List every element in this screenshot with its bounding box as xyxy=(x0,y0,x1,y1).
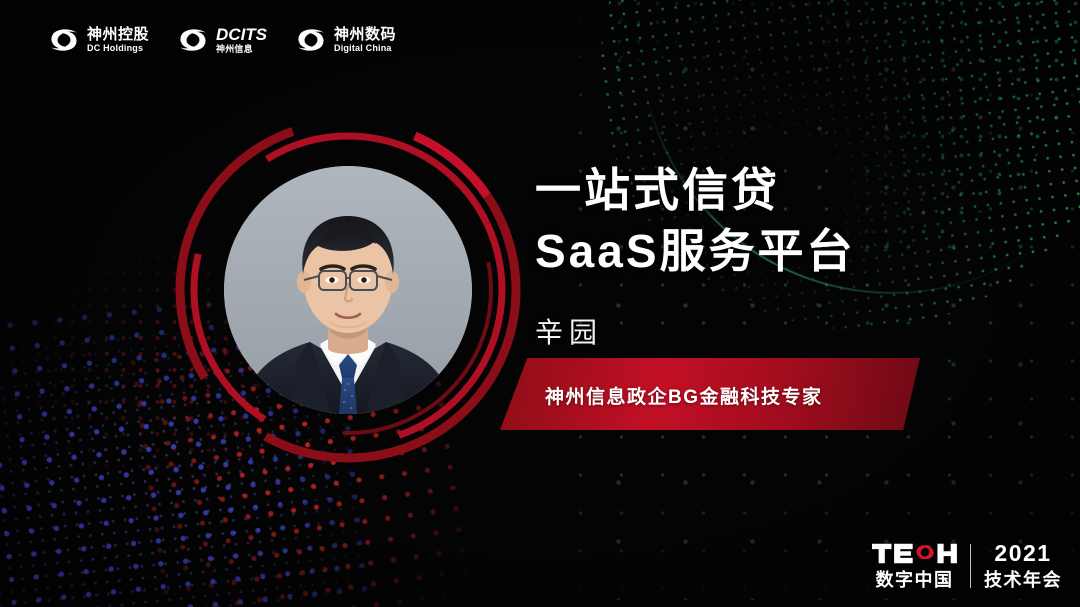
logo-digital-china-text: 神州数码 Digital China xyxy=(334,27,396,53)
logo-dc-holdings-text: 神州控股 DC Holdings xyxy=(87,27,149,53)
event-logo-divider xyxy=(970,544,971,588)
speaker-portrait-container xyxy=(198,140,498,440)
logo-digital-china-en: Digital China xyxy=(334,44,396,53)
logo-dcits-cn: 神州信息 xyxy=(216,45,267,54)
speaker-photo xyxy=(224,166,472,414)
event-logo: 数字中国 2021 技术年会 xyxy=(872,542,1062,589)
logo-dcits-latin: DCITS xyxy=(216,26,267,43)
title-block: 一站式信贷 SaaS服务平台 辛园 xyxy=(535,160,1005,351)
title-line-2: SaaS服务平台 xyxy=(535,221,1005,282)
event-year-cn: 技术年会 xyxy=(984,571,1062,589)
logo-dcits: DCITS 神州信息 xyxy=(177,26,267,54)
presentation-slide: 神州控股 DC Holdings DCITS 神州信息 神州数码 Digital… xyxy=(0,0,1080,607)
logo-dc-holdings-en: DC Holdings xyxy=(87,44,149,53)
event-logo-left: 数字中国 xyxy=(872,542,957,589)
dcits-swirl-icon xyxy=(177,27,209,53)
speaker-name: 辛园 xyxy=(535,311,1005,351)
speaker-photo-illustration xyxy=(224,166,472,414)
event-logo-cn: 数字中国 xyxy=(876,571,954,589)
logo-digital-china: 神州数码 Digital China xyxy=(295,27,396,53)
affiliation-text: 神州信息政企BG金融科技专家 xyxy=(545,382,823,409)
corporate-logo-bar: 神州控股 DC Holdings DCITS 神州信息 神州数码 Digital… xyxy=(48,26,396,54)
event-year: 2021 xyxy=(994,542,1051,565)
event-logo-right: 2021 技术年会 xyxy=(984,542,1062,589)
tech-wordmark-icon xyxy=(872,542,957,565)
title-line-1: 一站式信贷 xyxy=(535,160,1005,221)
logo-digital-china-cn: 神州数码 xyxy=(334,27,396,42)
digital-china-swirl-icon xyxy=(295,27,327,53)
logo-dc-holdings: 神州控股 DC Holdings xyxy=(48,27,149,53)
logo-dc-holdings-cn: 神州控股 xyxy=(87,27,149,42)
dc-swirl-icon xyxy=(48,27,80,53)
logo-dcits-text: DCITS 神州信息 xyxy=(216,26,267,54)
